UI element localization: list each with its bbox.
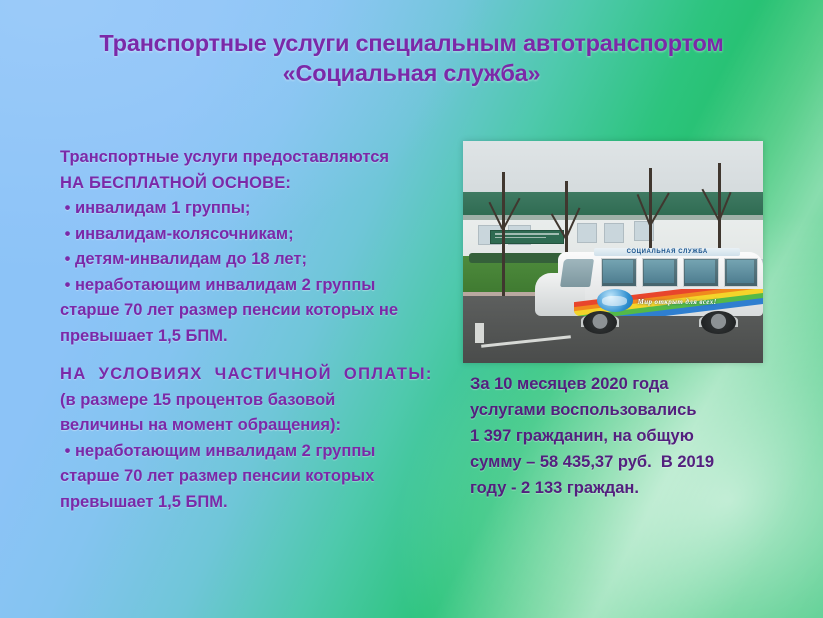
minibus-slogan: Мир открыт для всех!: [638, 295, 761, 309]
partial-line-3: старше 70 лет размер пенсии которых: [60, 464, 460, 490]
minibus-curtain: [727, 260, 754, 283]
slide-title-line-1: Транспортные услуги специальным автотран…: [60, 28, 763, 58]
partial-line-4: превышает 1,5 БПМ.: [60, 490, 460, 516]
social-service-bus-photo: СОЦИАЛЬНАЯ СЛУЖБА Мир открыт для всех!: [463, 141, 763, 363]
stats-line-1: услугами воспользовались: [470, 397, 800, 423]
partial-line-0: (в размере 15 процентов базовой: [60, 388, 460, 414]
free-line-0: Транспортные услуги предоставляются: [60, 145, 460, 171]
minibus-slogan-text: Мир открыт для всех!: [638, 298, 717, 306]
free-line-4: • детям-инвалидам до 18 лет;: [60, 247, 460, 273]
stats-line-4: году - 2 133 граждан.: [470, 475, 800, 501]
slide-title-line-2: «Социальная служба»: [60, 58, 763, 88]
partial-payment-block: НА УСЛОВИЯХ ЧАСТИЧНОЙ ОПЛАТЫ: (в размере…: [60, 362, 460, 515]
presentation-slide: Транспортные услуги специальным автотран…: [0, 0, 823, 618]
free-line-2: • инвалидам 1 группы;: [60, 196, 460, 222]
free-line-5: • неработающим инвалидам 2 группы: [60, 273, 460, 299]
partial-line-1: величины на момент обращения):: [60, 413, 460, 439]
minibus-front-wheel: [583, 311, 617, 334]
photo-tree: [502, 172, 505, 296]
minibus-curtain: [603, 260, 633, 283]
photo-window: [604, 223, 624, 243]
photo-lane-marking: [475, 323, 484, 343]
stats-line-2: 1 397 гражданин, на общую: [470, 423, 800, 449]
minibus-curtain: [685, 260, 715, 283]
free-line-6: старше 70 лет размер пенсии которых не: [60, 298, 460, 324]
minibus-windshield: [560, 259, 594, 287]
minibus-roof-sign: СОЦИАЛЬНАЯ СЛУЖБА: [594, 248, 740, 256]
free-line-3: • инвалидам-колясочникам;: [60, 222, 460, 248]
photo-minibus: СОЦИАЛЬНАЯ СЛУЖБА Мир открыт для всех!: [535, 243, 763, 332]
stats-line-0: За 10 месяцев 2020 года: [470, 371, 800, 397]
minibus-rear-wheel: [701, 311, 735, 334]
free-services-block: Транспортные услуги предоставляются НА Б…: [60, 145, 460, 349]
partial-heading: НА УСЛОВИЯХ ЧАСТИЧНОЙ ОПЛАТЫ:: [60, 362, 460, 388]
slide-title: Транспортные услуги специальным автотран…: [60, 28, 763, 88]
stats-line-3: сумму – 58 435,37 руб. В 2019: [470, 449, 800, 475]
photo-window: [577, 223, 597, 243]
minibus-curtain: [644, 260, 674, 283]
statistics-block: За 10 месяцев 2020 года услугами восполь…: [470, 371, 800, 501]
free-line-7: превышает 1,5 БПМ.: [60, 324, 460, 350]
minibus-roof-sign-text: СОЦИАЛЬНАЯ СЛУЖБА: [627, 249, 708, 255]
partial-line-2: • неработающим инвалидам 2 группы: [60, 439, 460, 465]
free-line-1: НА БЕСПЛАТНОЙ ОСНОВЕ:: [60, 171, 460, 197]
